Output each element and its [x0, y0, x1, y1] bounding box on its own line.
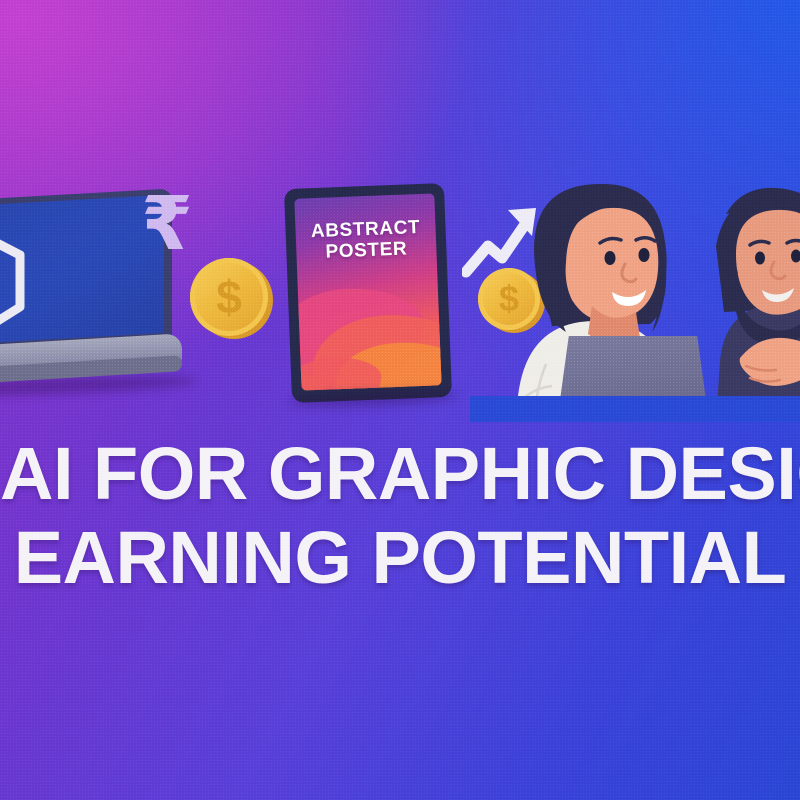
rupee-symbol-icon: ₹ [137, 186, 197, 262]
poster-canvas: AI ₹ $ ABSTRACT POSTER [0, 0, 800, 800]
couple-laptop-lid [560, 336, 706, 400]
coin-dollar-label: $ [190, 258, 268, 336]
tablet-frame: ABSTRACT POSTER [284, 183, 452, 403]
hexagon-ai-badge-icon: AI [0, 224, 32, 342]
tablet-poster-illustration: ABSTRACT POSTER [284, 183, 452, 403]
tablet-poster-text: ABSTRACT POSTER [295, 217, 436, 263]
person-right-man [716, 188, 800, 420]
headline-line-1: AI FOR GRAPHIC DESIGN [0, 432, 800, 516]
tablet-artwork: ABSTRACT POSTER [294, 193, 441, 390]
headline-line-2: EARNING POTENTIAL [0, 516, 800, 600]
poster-headline: AI FOR GRAPHIC DESIGN EARNING POTENTIAL [0, 432, 800, 600]
dollar-coin-left-icon: $ [190, 258, 268, 336]
desk-surface [470, 396, 800, 422]
